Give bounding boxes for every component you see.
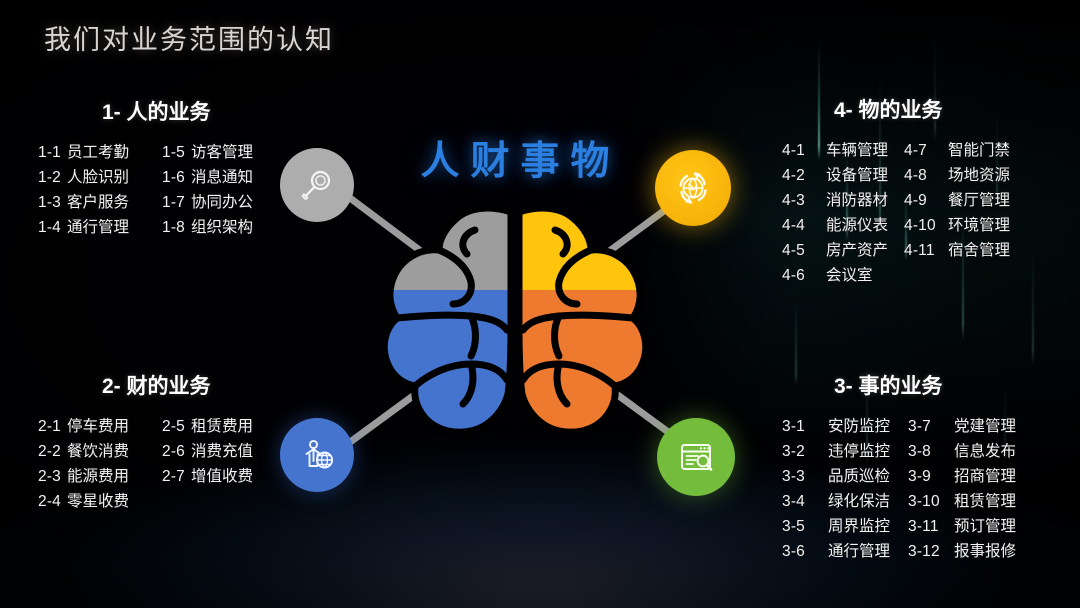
page-title: 我们对业务范围的认知 [44, 18, 334, 57]
item-label: 消防器材 [826, 188, 888, 213]
item-code: 1-4 [38, 215, 61, 240]
item-label: 安防监控 [828, 414, 890, 439]
list-item: 2-5租赁费用 [162, 414, 253, 439]
list-item: 3-3品质巡检 [782, 464, 908, 489]
item-code: 3-7 [908, 414, 954, 439]
item-label: 报事报修 [954, 539, 1016, 564]
list-item: 3-5周界监控 [782, 514, 908, 539]
item-label: 环境管理 [948, 213, 1010, 238]
section-people-column-b: 1-5访客管理 1-6消息通知 1-7协同办公 1-8组织架构 [162, 140, 253, 240]
list-item: 2-3能源费用 [38, 464, 162, 489]
brain-central-fissure [511, 210, 519, 436]
list-item: 4-1车辆管理 [782, 138, 904, 163]
item-label: 违停监控 [828, 439, 890, 464]
item-label: 党建管理 [954, 414, 1016, 439]
item-code: 3-1 [782, 414, 828, 439]
list-item: 4-9餐厅管理 [904, 188, 1010, 213]
list-item: 3-9招商管理 [908, 464, 1016, 489]
list-item: 3-7党建管理 [908, 414, 1016, 439]
list-item: 4-8场地资源 [904, 163, 1010, 188]
item-code: 4-6 [782, 263, 826, 288]
item-label: 消息通知 [191, 165, 253, 190]
item-label: 预订管理 [954, 514, 1016, 539]
list-item: 3-6通行管理 [782, 539, 908, 564]
list-item: 4-10环境管理 [904, 213, 1010, 238]
item-code: 2-7 [162, 464, 185, 489]
list-item: 2-1停车费用 [38, 414, 162, 439]
item-code: 3-8 [908, 439, 954, 464]
item-code: 3-12 [908, 539, 954, 564]
list-item: 3-4绿化保洁 [782, 489, 908, 514]
section-assets-column-b: 4-7智能门禁 4-8场地资源 4-9餐厅管理 4-10环境管理 4-11宿舍管… [904, 138, 1010, 288]
item-code: 4-11 [904, 238, 948, 263]
list-item: 1-5访客管理 [162, 140, 253, 165]
item-code: 2-3 [38, 464, 61, 489]
section-people-header: 1- 人的业务 [38, 96, 253, 126]
node-assets-icon[interactable] [655, 150, 731, 226]
center-diagram: 人财事物 [280, 130, 750, 510]
item-label: 信息发布 [954, 439, 1016, 464]
section-assets-column-a: 4-1车辆管理 4-2设备管理 4-3消防器材 4-4能源仪表 4-5房产资产 … [782, 138, 904, 288]
list-item: 1-4通行管理 [38, 215, 162, 240]
person-globe-icon [297, 435, 337, 475]
item-label: 能源仪表 [826, 213, 888, 238]
item-label: 访客管理 [191, 140, 253, 165]
item-code: 1-7 [162, 190, 185, 215]
list-item: 1-7协同办公 [162, 190, 253, 215]
list-item: 3-11预订管理 [908, 514, 1016, 539]
section-events-column-b: 3-7党建管理 3-8信息发布 3-9招商管理 3-10租赁管理 3-11预订管… [908, 414, 1016, 564]
list-item: 4-11宿舍管理 [904, 238, 1010, 263]
item-code: 4-4 [782, 213, 826, 238]
item-code: 1-1 [38, 140, 61, 165]
list-item: 3-12报事报修 [908, 539, 1016, 564]
item-label: 场地资源 [948, 163, 1010, 188]
section-people-columns: 1-1员工考勤 1-2人脸识别 1-3客户服务 1-4通行管理 1-5访客管理 … [38, 140, 253, 240]
item-code: 4-9 [904, 188, 948, 213]
list-item: 1-6消息通知 [162, 165, 253, 190]
section-people-column-a: 1-1员工考勤 1-2人脸识别 1-3客户服务 1-4通行管理 [38, 140, 162, 240]
item-code: 2-2 [38, 439, 61, 464]
item-code: 3-6 [782, 539, 828, 564]
item-code: 4-7 [904, 138, 948, 163]
item-code: 2-1 [38, 414, 61, 439]
list-item: 1-3客户服务 [38, 190, 162, 215]
item-label: 餐厅管理 [948, 188, 1010, 213]
node-finance-icon[interactable] [280, 418, 354, 492]
item-code: 2-6 [162, 439, 185, 464]
item-label: 车辆管理 [826, 138, 888, 163]
list-item: 4-2设备管理 [782, 163, 904, 188]
item-label: 能源费用 [67, 464, 129, 489]
item-code: 3-5 [782, 514, 828, 539]
item-code: 3-3 [782, 464, 828, 489]
item-code: 1-2 [38, 165, 61, 190]
item-code: 1-5 [162, 140, 185, 165]
list-item: 4-7智能门禁 [904, 138, 1010, 163]
item-label: 宿舍管理 [948, 238, 1010, 263]
item-code: 2-4 [38, 489, 61, 514]
item-code: 2-5 [162, 414, 185, 439]
item-code: 1-6 [162, 165, 185, 190]
list-item: 4-4能源仪表 [782, 213, 904, 238]
list-item: 3-8信息发布 [908, 439, 1016, 464]
globe-refresh-icon [671, 166, 715, 210]
item-label: 停车费用 [67, 414, 129, 439]
list-item: 2-2餐饮消费 [38, 439, 162, 464]
section-events: 3- 事的业务 3-1安防监控 3-2违停监控 3-3品质巡检 3-4绿化保洁 … [782, 370, 1016, 564]
section-people: 1- 人的业务 1-1员工考勤 1-2人脸识别 1-3客户服务 1-4通行管理 … [38, 96, 253, 240]
item-code: 1-8 [162, 215, 185, 240]
item-label: 通行管理 [67, 215, 129, 240]
item-label: 餐饮消费 [67, 439, 129, 464]
item-label: 租赁费用 [191, 414, 253, 439]
list-item: 2-7增值收费 [162, 464, 253, 489]
list-item: 1-8组织架构 [162, 215, 253, 240]
list-item: 1-1员工考勤 [38, 140, 162, 165]
list-item: 3-1安防监控 [782, 414, 908, 439]
item-code: 3-2 [782, 439, 828, 464]
item-label: 协同办公 [191, 190, 253, 215]
item-label: 绿化保洁 [828, 489, 890, 514]
item-code: 3-10 [908, 489, 954, 514]
list-item: 3-2违停监控 [782, 439, 908, 464]
item-label: 组织架构 [191, 215, 253, 240]
section-finance-columns: 2-1停车费用 2-2餐饮消费 2-3能源费用 2-4零星收费 2-5租赁费用 … [38, 414, 253, 514]
item-code: 4-5 [782, 238, 826, 263]
item-label: 房产资产 [826, 238, 888, 263]
list-item: 2-4零星收费 [38, 489, 162, 514]
item-code: 4-8 [904, 163, 948, 188]
section-finance: 2- 财的业务 2-1停车费用 2-2餐饮消费 2-3能源费用 2-4零星收费 … [38, 370, 253, 514]
section-assets-header: 4- 物的业务 [782, 94, 1010, 124]
item-label: 人脸识别 [67, 165, 129, 190]
item-label: 会议室 [826, 263, 873, 288]
item-label: 租赁管理 [954, 489, 1016, 514]
item-label: 通行管理 [828, 539, 890, 564]
item-label: 增值收费 [191, 464, 253, 489]
item-label: 智能门禁 [948, 138, 1010, 163]
section-events-columns: 3-1安防监控 3-2违停监控 3-3品质巡检 3-4绿化保洁 3-5周界监控 … [782, 414, 1016, 564]
item-code: 4-2 [782, 163, 826, 188]
item-label: 周界监控 [828, 514, 890, 539]
window-search-icon [674, 435, 718, 479]
item-label: 招商管理 [954, 464, 1016, 489]
list-item: 4-3消防器材 [782, 188, 904, 213]
slide-canvas: 我们对业务范围的认知 1- 人的业务 1-1员工考勤 1-2人脸识别 1-3客户… [0, 0, 1080, 608]
item-code: 4-10 [904, 213, 948, 238]
list-item: 1-2人脸识别 [38, 165, 162, 190]
section-finance-header: 2- 财的业务 [38, 370, 253, 400]
item-code: 4-3 [782, 188, 826, 213]
list-item: 4-5房产资产 [782, 238, 904, 263]
brain-illustration [375, 204, 655, 464]
node-people-icon[interactable] [280, 148, 354, 222]
section-events-column-a: 3-1安防监控 3-2违停监控 3-3品质巡检 3-4绿化保洁 3-5周界监控 … [782, 414, 908, 564]
section-finance-column-b: 2-5租赁费用 2-6消费充值 2-7增值收费 [162, 414, 253, 514]
item-label: 品质巡检 [828, 464, 890, 489]
section-events-header: 3- 事的业务 [782, 370, 1016, 400]
list-item: 3-10租赁管理 [908, 489, 1016, 514]
item-code: 4-1 [782, 138, 826, 163]
item-code: 1-3 [38, 190, 61, 215]
section-assets: 4- 物的业务 4-1车辆管理 4-2设备管理 4-3消防器材 4-4能源仪表 … [782, 94, 1010, 288]
item-label: 消费充值 [191, 439, 253, 464]
node-events-icon[interactable] [657, 418, 735, 496]
item-label: 客户服务 [67, 190, 129, 215]
item-label: 零星收费 [67, 489, 129, 514]
item-label: 设备管理 [826, 163, 888, 188]
magnifier-icon [297, 165, 337, 205]
item-code: 3-4 [782, 489, 828, 514]
list-item: 2-6消费充值 [162, 439, 253, 464]
item-code: 3-11 [908, 514, 954, 539]
item-label: 员工考勤 [67, 140, 129, 165]
section-assets-columns: 4-1车辆管理 4-2设备管理 4-3消防器材 4-4能源仪表 4-5房产资产 … [782, 138, 1010, 288]
item-code: 3-9 [908, 464, 954, 489]
section-finance-column-a: 2-1停车费用 2-2餐饮消费 2-3能源费用 2-4零星收费 [38, 414, 162, 514]
list-item: 4-6会议室 [782, 263, 904, 288]
